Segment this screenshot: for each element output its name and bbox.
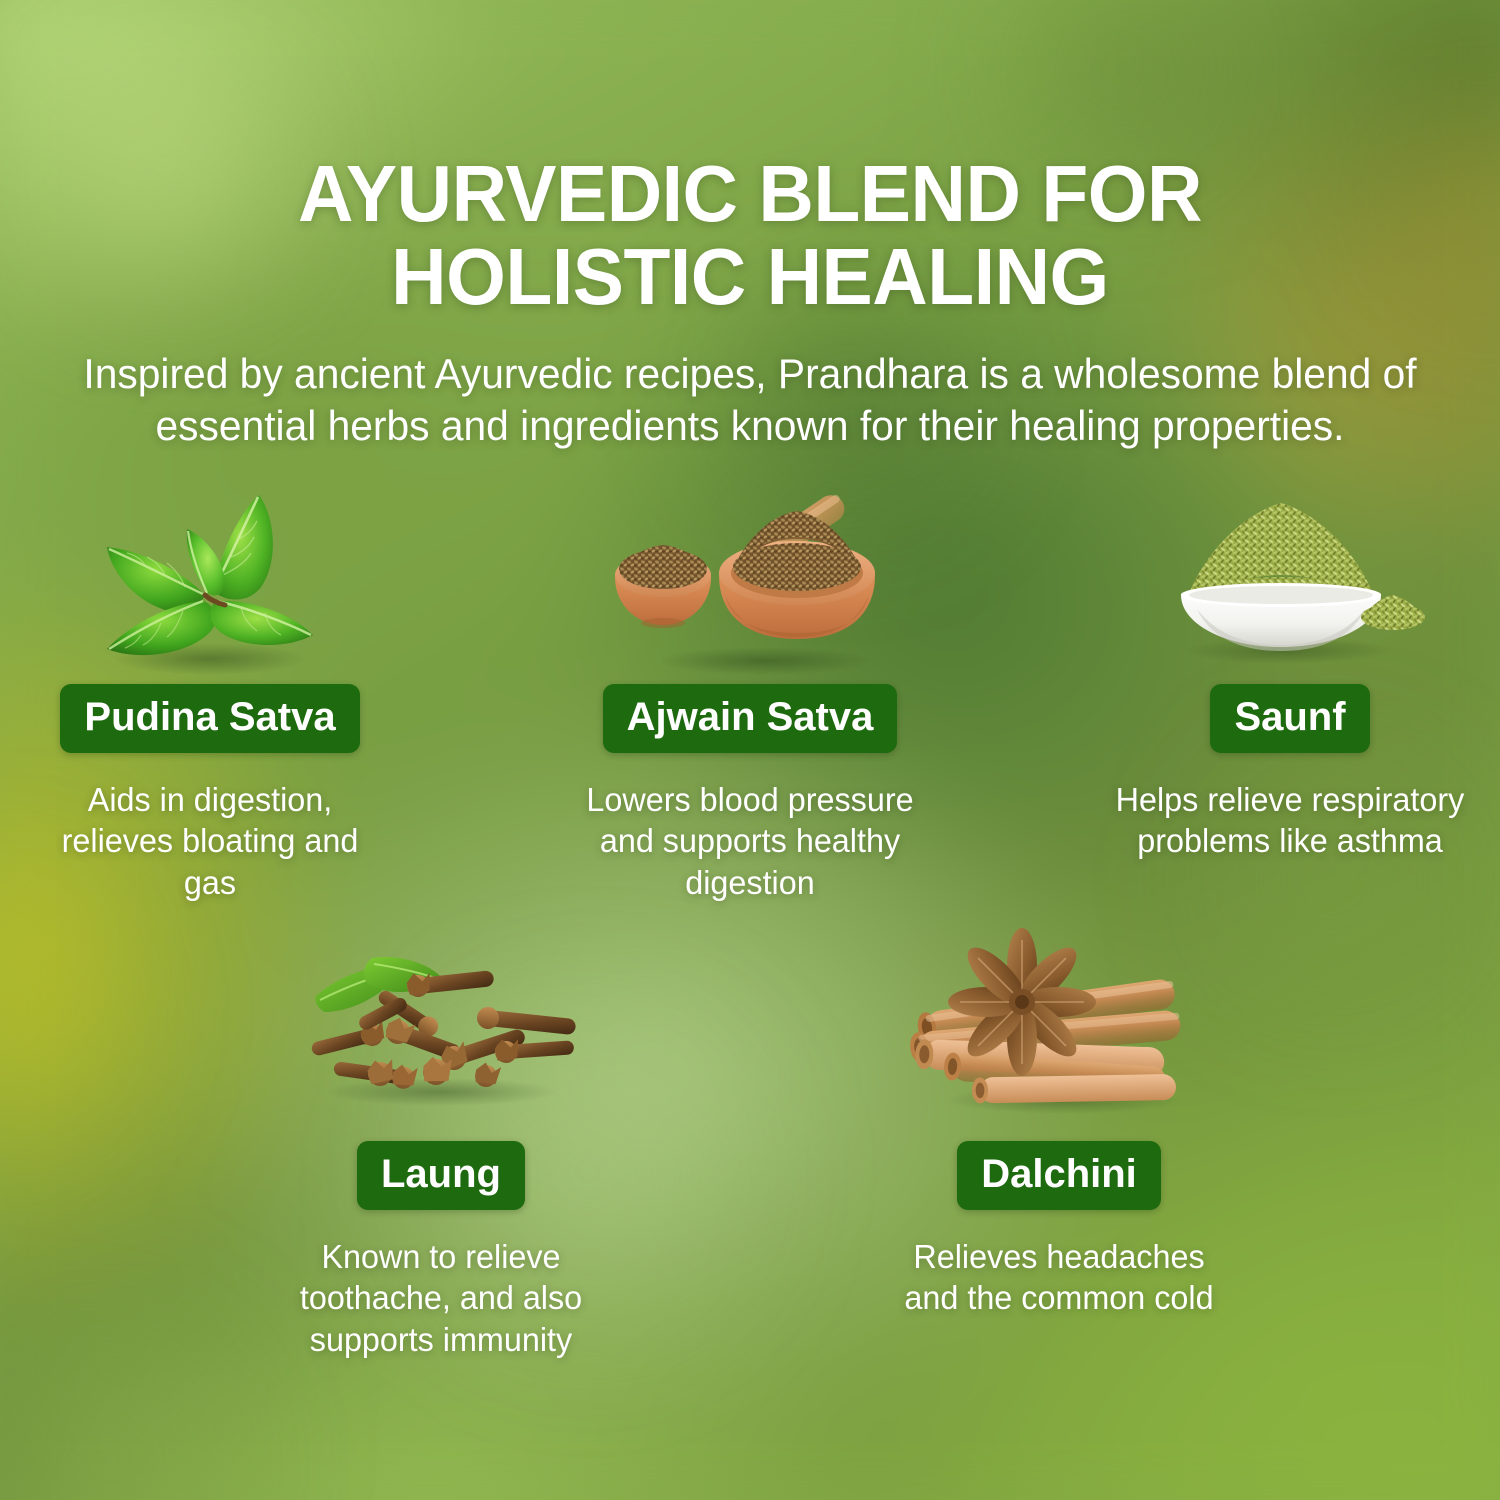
ingredient-row-top: Pudina Satva Aids in digestion, relieves… — [0, 483, 1500, 904]
ingredient-card-dalchini: Dalchini Relieves headaches and the comm… — [857, 940, 1261, 1319]
ingredient-label-wrap: Laung — [357, 1141, 525, 1210]
ingredient-name-badge: Ajwain Satva — [603, 684, 898, 753]
ingredient-name-badge: Dalchini — [957, 1141, 1161, 1210]
cloves-image — [276, 940, 606, 1135]
ingredient-description: Known to relieve toothache, and also sup… — [265, 1236, 618, 1361]
mint-leaves-image — [45, 483, 375, 678]
ingredient-row-bottom: Laung Known to relieve toothache, and al… — [0, 940, 1500, 1361]
ingredient-card-ajwain-satva: Ajwain Satva Lowers blood pressure and s… — [548, 483, 952, 904]
ingredient-card-saunf: Saunf Helps relieve respiratory problems… — [1088, 483, 1492, 862]
ingredient-name-badge: Pudina Satva — [60, 684, 359, 753]
ajwain-seeds-bowls-image — [585, 483, 915, 678]
ayurvedic-blend-poster: AYURVEDIC BLEND FOR HOLISTIC HEALING Ins… — [0, 0, 1500, 1500]
ingredient-label-wrap: Dalchini — [957, 1141, 1161, 1210]
fennel-seeds-bowl-image — [1125, 483, 1455, 678]
ingredient-label-wrap: Saunf — [1210, 684, 1369, 753]
ingredient-label-wrap: Ajwain Satva — [603, 684, 898, 753]
ingredient-name-badge: Laung — [357, 1141, 525, 1210]
ingredient-description: Relieves headaches and the common cold — [883, 1236, 1236, 1319]
ingredient-description: Lowers blood pressure and supports healt… — [574, 779, 927, 904]
cinnamon-sticks-star-anise-image — [894, 940, 1224, 1135]
page-title: AYURVEDIC BLEND FOR HOLISTIC HEALING — [30, 152, 1470, 318]
poster-subtitle: Inspired by ancient Ayurvedic recipes, P… — [23, 348, 1478, 450]
ingredient-card-pudina-satva: Pudina Satva Aids in digestion, relieves… — [8, 483, 412, 904]
ingredient-card-laung: Laung Known to relieve toothache, and al… — [239, 940, 643, 1361]
ingredient-name-badge: Saunf — [1210, 684, 1369, 753]
ingredient-description: Aids in digestion, relieves bloating and… — [34, 779, 387, 904]
poster-header: AYURVEDIC BLEND FOR HOLISTIC HEALING Ins… — [0, 0, 1500, 451]
ingredient-description: Helps relieve respiratory problems like … — [1114, 779, 1467, 862]
ingredient-label-wrap: Pudina Satva — [60, 684, 359, 753]
